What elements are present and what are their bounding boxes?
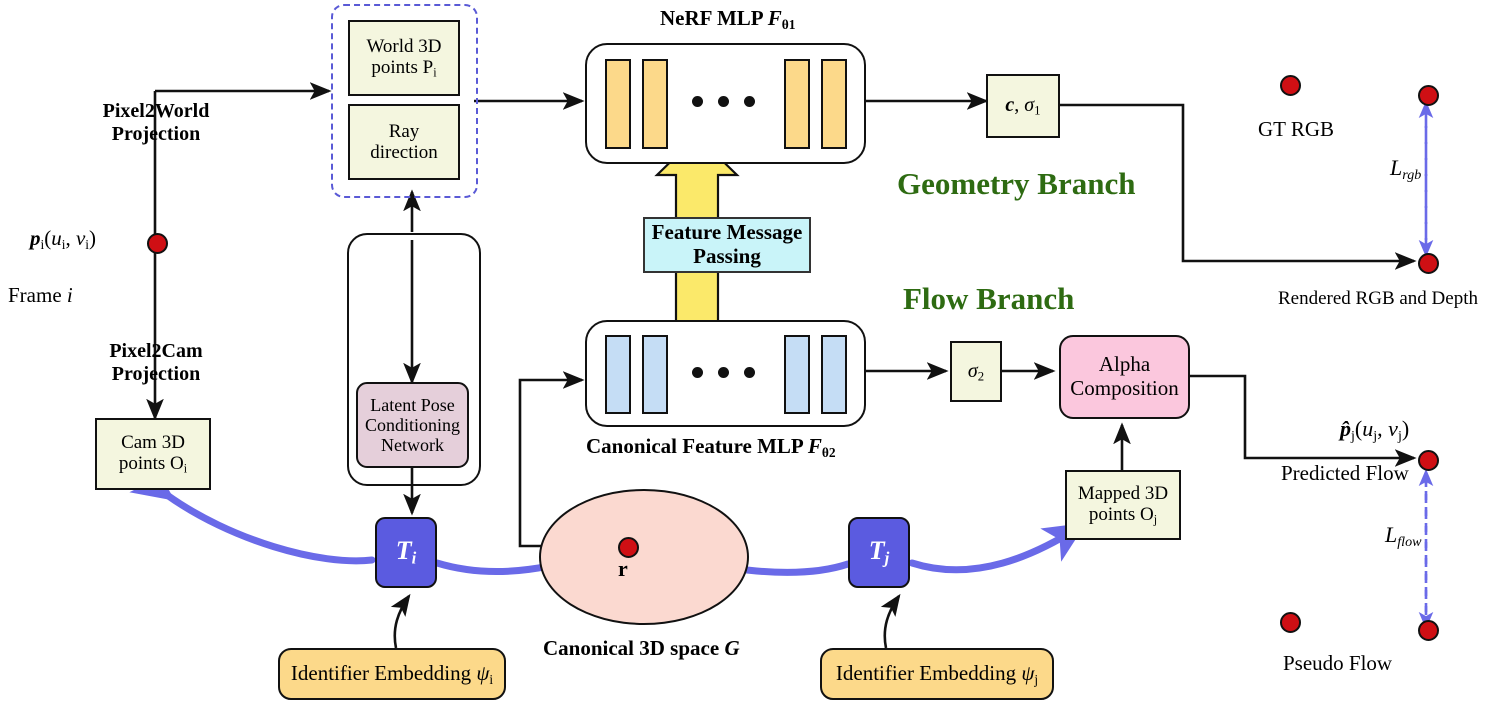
latent-pose-conditioning-network: Latent Pose Conditioning Network bbox=[356, 382, 469, 468]
canonical-feature-mlp-box bbox=[585, 320, 866, 427]
nerf-mlp-layer-bar bbox=[605, 59, 631, 149]
canonical-point-r-label: r bbox=[618, 556, 628, 582]
pseudo-flow-label: Pseudo Flow bbox=[1283, 651, 1392, 676]
pseudo-flow-dot bbox=[1280, 612, 1301, 633]
rendered-rgb-depth-label: Rendered RGB and Depth bbox=[1278, 288, 1478, 310]
canonical-mlp-ellipsis-dot bbox=[692, 367, 703, 378]
rendered-rgb-dot bbox=[1418, 253, 1439, 274]
rgb-loss-top-dot bbox=[1418, 85, 1439, 106]
gt-rgb-dot bbox=[1280, 75, 1301, 96]
flow-output-box: σ2 bbox=[950, 341, 1002, 402]
predicted-point-label: p̂j(uj, vj) bbox=[1340, 416, 1409, 445]
flow-branch-label: Flow Branch bbox=[903, 281, 1074, 317]
canonical-mlp-caption: Canonical Feature MLP Fθ2 bbox=[586, 434, 836, 461]
canonical-space-caption: Canonical 3D space G bbox=[543, 636, 740, 661]
canonical-mlp-layer-bar bbox=[821, 335, 847, 414]
canonical-point-r-dot bbox=[618, 537, 639, 558]
loss-rgb-label: Lrgb bbox=[1390, 155, 1421, 184]
alpha-composition-box: Alpha Composition bbox=[1059, 335, 1190, 419]
pixel-point-label: pi(ui, vi) bbox=[30, 226, 96, 253]
transform-tj-box: Tj bbox=[848, 517, 910, 588]
nerf-mlp-layer-bar bbox=[784, 59, 810, 149]
pixel-point-dot bbox=[147, 233, 168, 254]
canonical-3d-space-ellipse bbox=[539, 489, 749, 625]
diagram-canvas: Pixel2World Projection pi(ui, vi) Frame … bbox=[0, 0, 1492, 707]
nerf-mlp-caption: NeRF MLP Fθ1 bbox=[660, 6, 795, 33]
frame-label: Frame i bbox=[8, 283, 73, 308]
nerf-mlp-box bbox=[585, 43, 866, 164]
canonical-mlp-ellipsis-dot bbox=[744, 367, 755, 378]
gt-rgb-label: GT RGB bbox=[1258, 117, 1334, 142]
canonical-mlp-layer-bar bbox=[605, 335, 631, 414]
pixel2cam-label: Pixel2Cam Projection bbox=[94, 340, 218, 386]
feature-message-passing-box: Feature Message Passing bbox=[643, 217, 811, 273]
loss-flow-label: Lflow bbox=[1385, 522, 1422, 551]
geometry-output-box: c, σ1 bbox=[986, 74, 1060, 138]
pixel2world-label: Pixel2World Projection bbox=[94, 100, 218, 146]
predicted-flow-label: Predicted Flow bbox=[1281, 461, 1409, 486]
nerf-mlp-ellipsis-dot bbox=[744, 96, 755, 107]
pseudo-flow-loss-dot bbox=[1418, 620, 1439, 641]
canonical-mlp-ellipsis-dot bbox=[718, 367, 729, 378]
nerf-mlp-ellipsis-dot bbox=[692, 96, 703, 107]
predicted-flow-dot bbox=[1418, 450, 1439, 471]
world-3d-points-box: World 3D points Pi bbox=[348, 20, 460, 96]
nerf-mlp-ellipsis-dot bbox=[718, 96, 729, 107]
identifier-embedding-i-box: Identifier Embedding ψi bbox=[278, 648, 506, 700]
ray-direction-box: Ray direction bbox=[348, 104, 460, 180]
nerf-mlp-layer-bar bbox=[642, 59, 668, 149]
nerf-mlp-layer-bar bbox=[821, 59, 847, 149]
cam-3d-points-box: Cam 3D points Oi bbox=[95, 418, 211, 490]
transform-ti-box: Ti bbox=[375, 517, 437, 588]
canonical-mlp-layer-bar bbox=[642, 335, 668, 414]
geometry-branch-label: Geometry Branch bbox=[897, 166, 1135, 202]
identifier-embedding-j-box: Identifier Embedding ψj bbox=[820, 648, 1054, 700]
mapped-3d-points-box: Mapped 3D points Oj bbox=[1065, 470, 1181, 540]
canonical-mlp-layer-bar bbox=[784, 335, 810, 414]
